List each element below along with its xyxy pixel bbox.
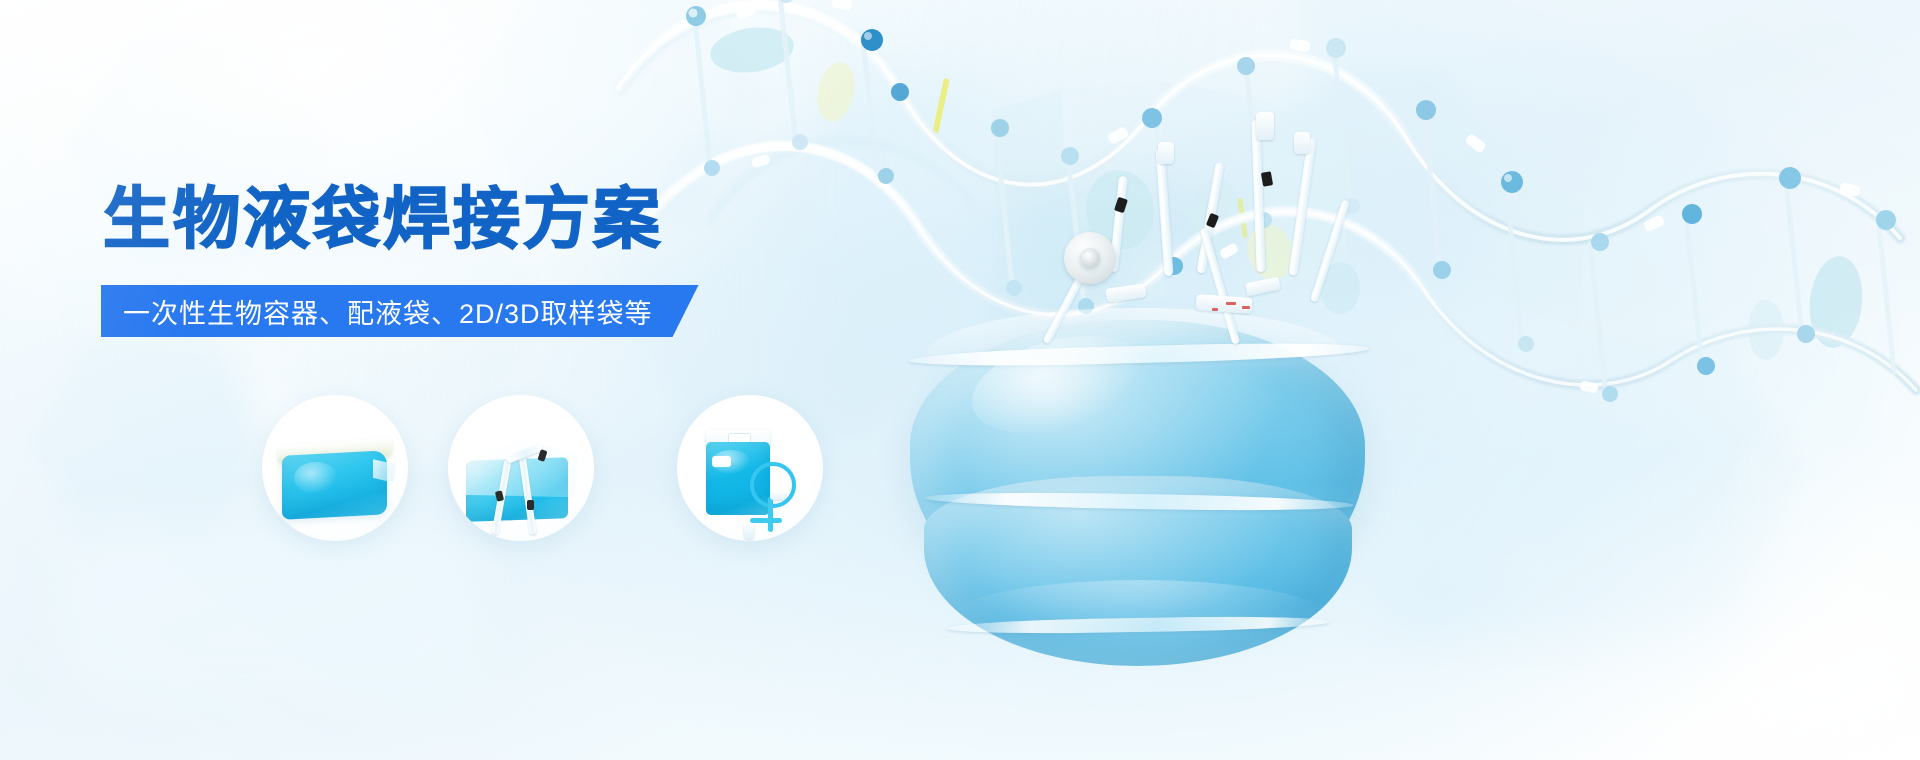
tubing-manifold-icon (1010, 80, 1390, 340)
hero-banner: 生物液袋焊接方案 一次性生物容器、配液袋、2D/3D取样袋等 (0, 0, 1920, 760)
product-thumbnail-3[interactable] (677, 395, 823, 541)
sampling-bag-icon (677, 395, 823, 541)
product-thumbnail-2[interactable] (448, 395, 594, 541)
page-title: 生物液袋焊接方案 (103, 186, 663, 253)
subtitle-banner: 一次性生物容器、配液袋、2D/3D取样袋等 (101, 285, 699, 337)
bioreactor-bag-icon (880, 280, 1400, 700)
liquid-bag-icon (262, 395, 408, 541)
3d-bag-icon (448, 395, 594, 541)
subtitle-text: 一次性生物容器、配液袋、2D/3D取样袋等 (123, 292, 653, 331)
product-thumbnail-1[interactable] (262, 395, 408, 541)
